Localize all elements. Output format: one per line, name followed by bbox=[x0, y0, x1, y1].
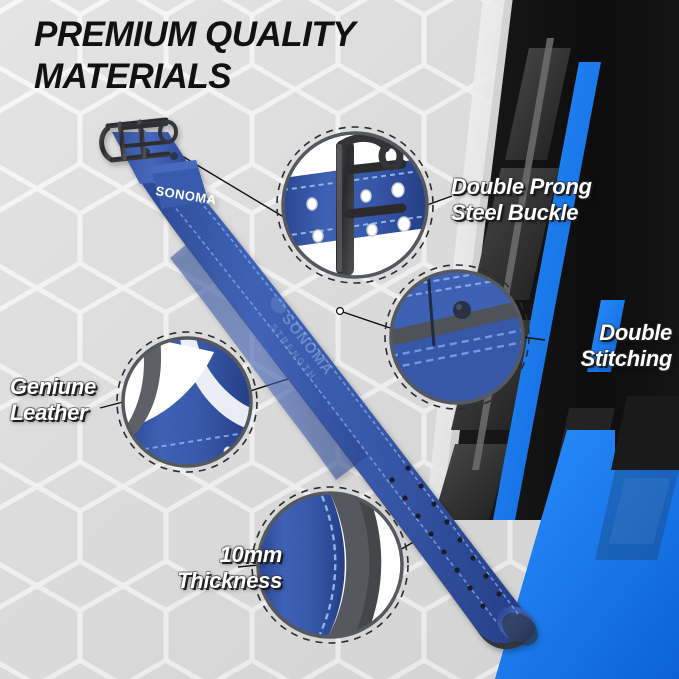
callout-circle-double-stitching[interactable] bbox=[385, 265, 529, 409]
callout-label-double-stitching: Double Stitching bbox=[520, 320, 672, 372]
infographic-canvas: SONOMA STRENGTH SONOMA bbox=[0, 0, 679, 679]
callout-label-10mm-thickness: 10mm Thickness bbox=[120, 542, 282, 594]
callout-circle-geniune-leather[interactable] bbox=[117, 332, 257, 472]
callout-circle-double-prong-steel-buckle[interactable] bbox=[277, 127, 433, 283]
callout-label-double-prong-steel-buckle: Double Prong Steel Buckle bbox=[451, 174, 592, 226]
callout-label-geniune-leather: Geniune Leather bbox=[10, 374, 96, 426]
belt-keeper-loop: SONOMA bbox=[150, 160, 218, 208]
page-title: PREMIUM QUALITY MATERIALS bbox=[34, 14, 355, 98]
